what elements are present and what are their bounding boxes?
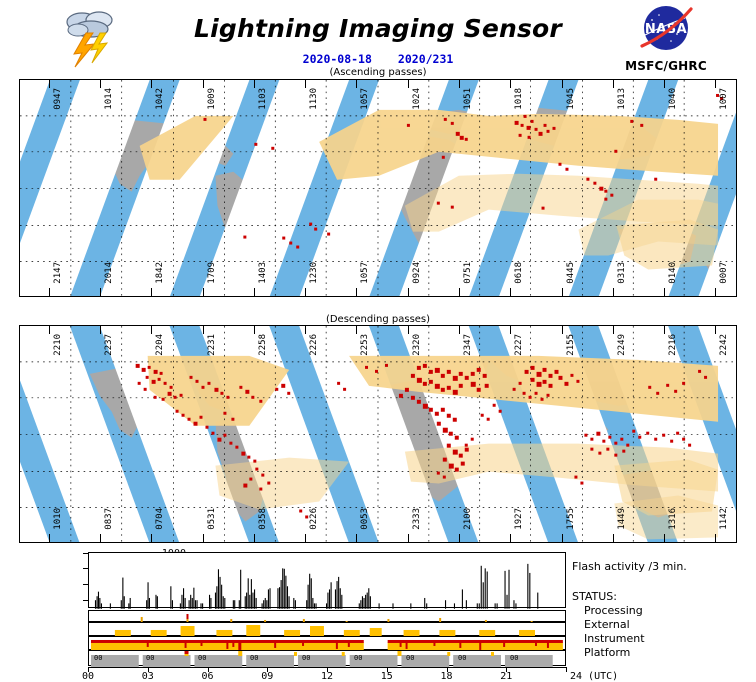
legend-item-external: External xyxy=(584,618,630,631)
flash-activity-bars xyxy=(89,553,565,609)
platform-orbit-marker: 00 xyxy=(198,654,206,662)
legend-item-processing: Processing xyxy=(584,604,643,617)
timeline-xtick xyxy=(566,667,567,672)
nasa-meatball-logo: NASA xyxy=(635,4,697,54)
timeline-xlabel: 06 xyxy=(201,671,213,682)
platform-orbit-marker: 00 xyxy=(94,654,102,662)
legend-status-title: STATUS: xyxy=(572,590,617,603)
platform-orbit-marker: 00 xyxy=(146,654,154,662)
descending-map: 2210101022370837220407042231053122580358… xyxy=(19,325,737,543)
status-row-processing xyxy=(88,610,566,622)
descending-flash-points-layer xyxy=(20,326,736,543)
day-of-year: 2020/231 xyxy=(398,52,453,66)
timeline-xlabel: 18 xyxy=(440,671,452,682)
timeline-xlabel: 12 xyxy=(321,671,333,682)
timeline-xlabel: 00 xyxy=(82,671,94,682)
platform-trace xyxy=(89,651,565,667)
platform-orbit-marker: 00 xyxy=(250,654,258,662)
ascending-flash-points-layer xyxy=(20,80,736,297)
svg-text:NASA: NASA xyxy=(645,22,687,37)
legend-item-platform: Platform xyxy=(584,646,630,659)
nasa-caption: MSFC/GHRC xyxy=(620,59,712,73)
flash-activity-plot xyxy=(88,552,566,608)
ascending-map: 0947214710142014104218421009170911031403… xyxy=(19,79,737,297)
status-row-instrument xyxy=(88,636,566,650)
ascending-map-frame: 0947214710142014104218421009170911031403… xyxy=(19,79,737,297)
legend-flash-activity: Flash activity /3 min. xyxy=(572,560,687,573)
observation-date: 2020-08-18 xyxy=(303,52,372,66)
timeline-xlabel: 03 xyxy=(142,671,154,682)
nasa-branding: NASA MSFC/GHRC xyxy=(620,4,712,73)
platform-orbit-marker: 00 xyxy=(458,654,466,662)
descending-passes-caption: (Descending passes) xyxy=(0,314,756,325)
legend-item-instrument: Instrument xyxy=(584,632,645,645)
timeline-xlabel: 21 xyxy=(500,671,512,682)
page-header: Lightning Imaging Sensor 2020-08-182020/… xyxy=(0,0,756,78)
descending-map-frame: 2210101022370837220407042231053122580358… xyxy=(19,325,737,543)
timeline-xlabel: 15 xyxy=(381,671,393,682)
status-row-external xyxy=(88,622,566,636)
timeline-xlabel: 09 xyxy=(261,671,273,682)
platform-orbit-marker: 00 xyxy=(302,654,310,662)
platform-orbit-marker: 00 xyxy=(354,654,362,662)
timeline-panel: 1000 100 10 1 xyxy=(0,548,756,680)
platform-orbit-marker: 00 xyxy=(510,654,518,662)
platform-orbit-marker: 00 xyxy=(406,654,414,662)
status-row-platform: 000000000000000000 xyxy=(88,650,566,666)
utc-axis-label: 24 (UTC) xyxy=(570,671,618,682)
